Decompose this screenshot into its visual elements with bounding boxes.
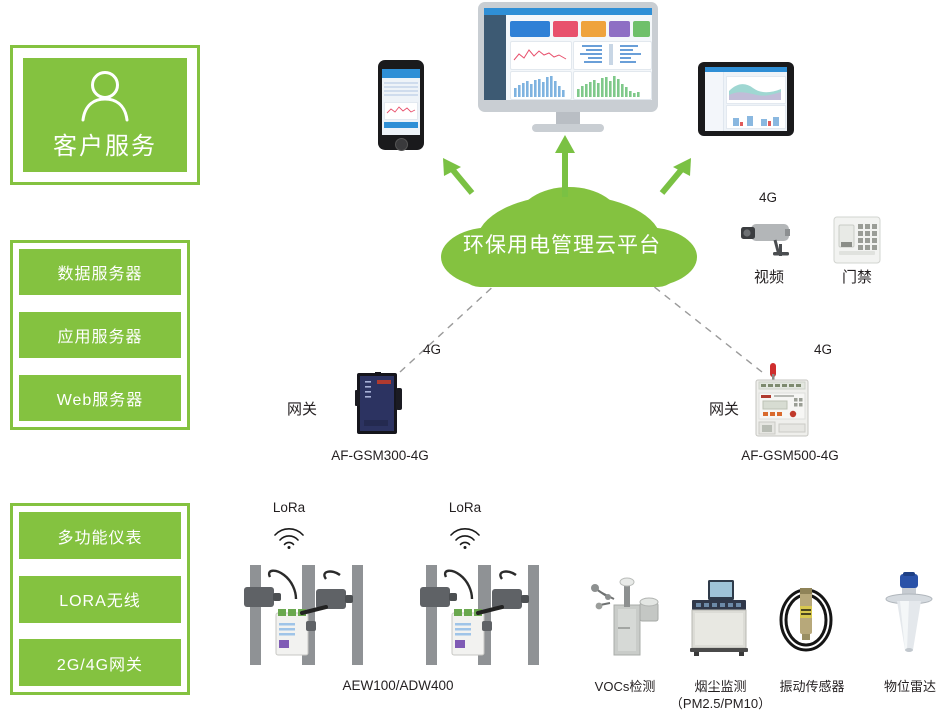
phone-app-table: [382, 78, 420, 100]
gateway-right-device: [750, 360, 814, 438]
desktop-monitor: [478, 2, 658, 134]
chart-card-butterfly: [573, 41, 652, 70]
phone-app-chart: [384, 102, 418, 120]
vocs-sensor-device: [588, 575, 662, 657]
dust-monitor-label-line2: （PM2.5/PM10）: [668, 695, 773, 712]
gateway-right-link-label: 4G: [803, 342, 843, 357]
lora-left-wifi-icon: [272, 521, 306, 549]
chart-card-line: [510, 41, 572, 70]
dashboard-header: [484, 8, 652, 15]
vibration-sensor-label-line1: 振动传感器: [762, 678, 862, 695]
access-control-label: 门禁: [827, 266, 887, 287]
video-camera: [735, 218, 803, 262]
cloud-arrows: [420, 125, 710, 205]
phone-app-header: [382, 69, 420, 78]
dashboard-sidebar: [484, 15, 506, 100]
gateway-right-model: AF-GSM500-4G: [740, 448, 840, 463]
level-radar-device: [880, 572, 938, 658]
chart-card-bars-green: [573, 71, 652, 100]
gateway-left-model: AF-GSM300-4G: [330, 448, 430, 463]
vibration-sensor-label: 振动传感器: [762, 678, 862, 695]
tablet-dashboard: [705, 67, 787, 131]
tablet: [698, 62, 794, 136]
dashed-link-right: [648, 282, 762, 372]
lora-node-left-label: LoRa: [267, 500, 311, 515]
tablet-area-chart: [726, 76, 786, 104]
arrow-to-monitor-head: [555, 135, 575, 153]
phone-app-footer: [384, 122, 418, 128]
kpi-card-1: [510, 21, 550, 37]
kpi-card-4: [609, 21, 630, 37]
gateway-left-device: [355, 372, 403, 436]
monitor-base: [532, 124, 604, 132]
vibration-sensor-device: [775, 578, 837, 656]
kpi-card-2: [553, 21, 578, 37]
gateway-right-role-label: 网关: [702, 398, 746, 419]
access-control: [833, 216, 881, 264]
dust-monitor-device: [688, 578, 750, 656]
vocs-sensor-label-line1: VOCs检测: [575, 678, 675, 695]
kpi-card-5: [633, 21, 650, 37]
security-link-label: 4G: [748, 190, 788, 205]
meter-assembly-right: [416, 565, 556, 665]
phone-home-button[interactable]: [395, 138, 408, 151]
level-radar-label: 物位雷达: [860, 678, 944, 695]
monitor-dashboard: [484, 8, 652, 100]
dashed-link-left: [400, 282, 498, 372]
arrow-to-phone-line: [452, 169, 472, 193]
tablet-sidebar: [705, 72, 724, 131]
gateway-left-role-label: 网关: [280, 398, 324, 419]
kpi-card-3: [581, 21, 606, 37]
tablet-bar-chart: [726, 105, 786, 129]
video-camera-label: 视频: [739, 266, 799, 287]
meter-assembly-left: [240, 565, 380, 665]
arrow-to-tablet-line: [662, 169, 682, 193]
level-radar-label-line1: 物位雷达: [860, 678, 944, 695]
phone-app-screen: [382, 69, 420, 135]
cloud-platform-label: 环保用电管理云平台: [463, 229, 661, 259]
dust-monitor-label: 烟尘监测 （PM2.5/PM10）: [668, 678, 773, 712]
vocs-sensor-label: VOCs检测: [575, 678, 675, 695]
gateway-left-link-label: 4G: [412, 342, 452, 357]
smartphone: [378, 60, 424, 150]
lora-node-right-label: LoRa: [443, 500, 487, 515]
lora-right-wifi-icon: [448, 521, 482, 549]
chart-card-bars-blue: [510, 71, 572, 100]
dust-monitor-label-line1: 烟尘监测: [668, 678, 773, 695]
meter-model-label: AEW100/ADW400: [338, 678, 458, 693]
